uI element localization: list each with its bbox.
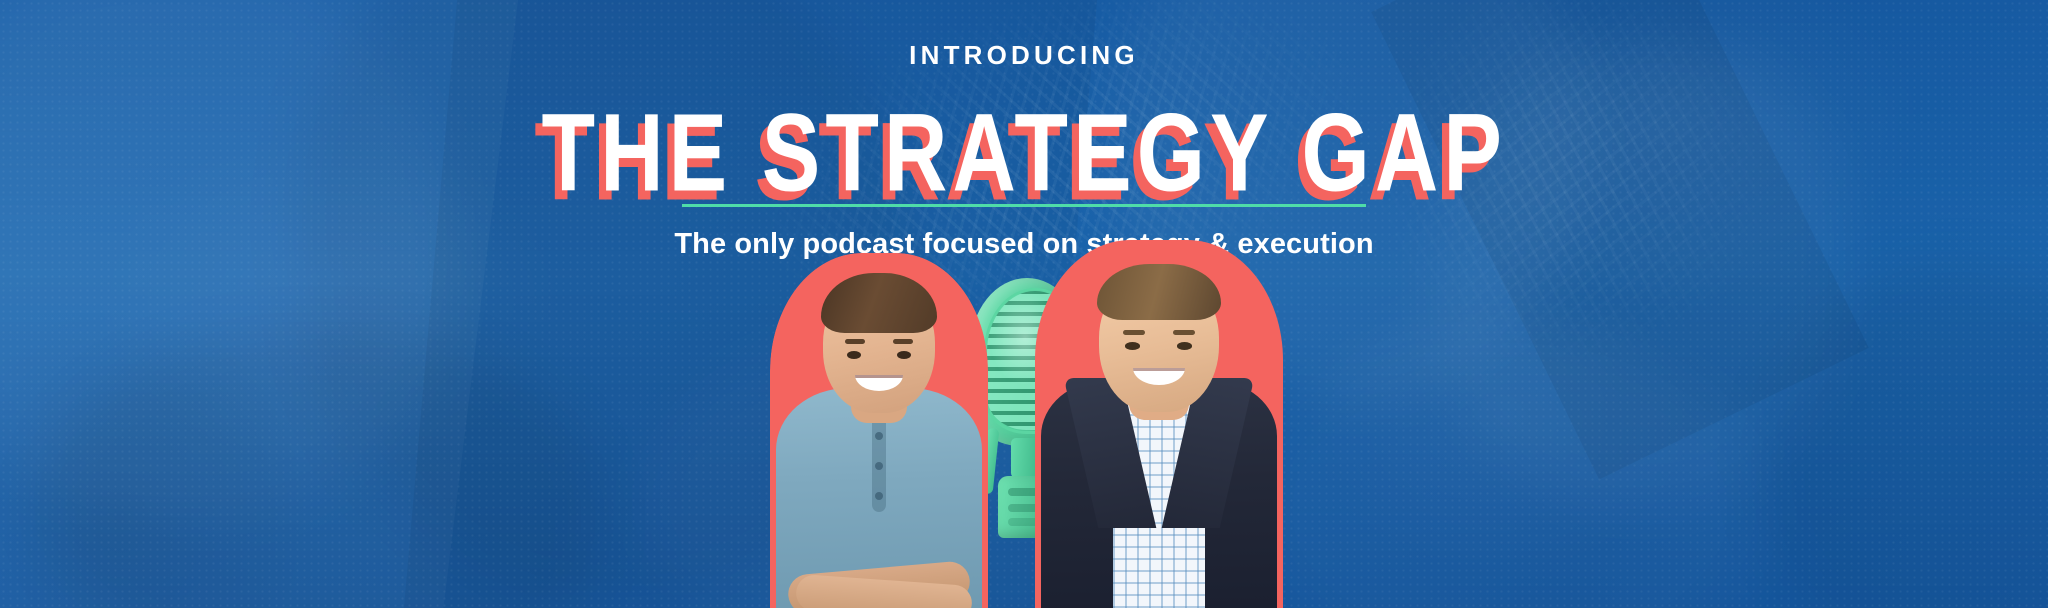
podcast-announcement-banner: INTRODUCING THE STRATEGY GAP The only po… bbox=[0, 0, 2048, 608]
host-left-crossed-arms bbox=[780, 550, 978, 608]
subtitle-tagline: The only podcast focused on strategy & e… bbox=[0, 228, 2048, 261]
page-title: THE STRATEGY GAP bbox=[541, 92, 1506, 215]
title-divider bbox=[682, 204, 1366, 207]
host-right-hair bbox=[1097, 264, 1221, 320]
banner-content: INTRODUCING THE STRATEGY GAP The only po… bbox=[0, 0, 2048, 608]
host-left-eyes bbox=[847, 351, 861, 359]
podcast-host-right bbox=[1035, 240, 1283, 608]
kicker-label: INTRODUCING bbox=[0, 40, 2048, 71]
host-right-eyebrows bbox=[1123, 330, 1145, 335]
host-left-eyebrows bbox=[845, 339, 865, 344]
host-right-eyes bbox=[1125, 342, 1140, 350]
page-title-wrapper: THE STRATEGY GAP bbox=[0, 92, 2048, 188]
podcast-host-left bbox=[770, 253, 988, 608]
